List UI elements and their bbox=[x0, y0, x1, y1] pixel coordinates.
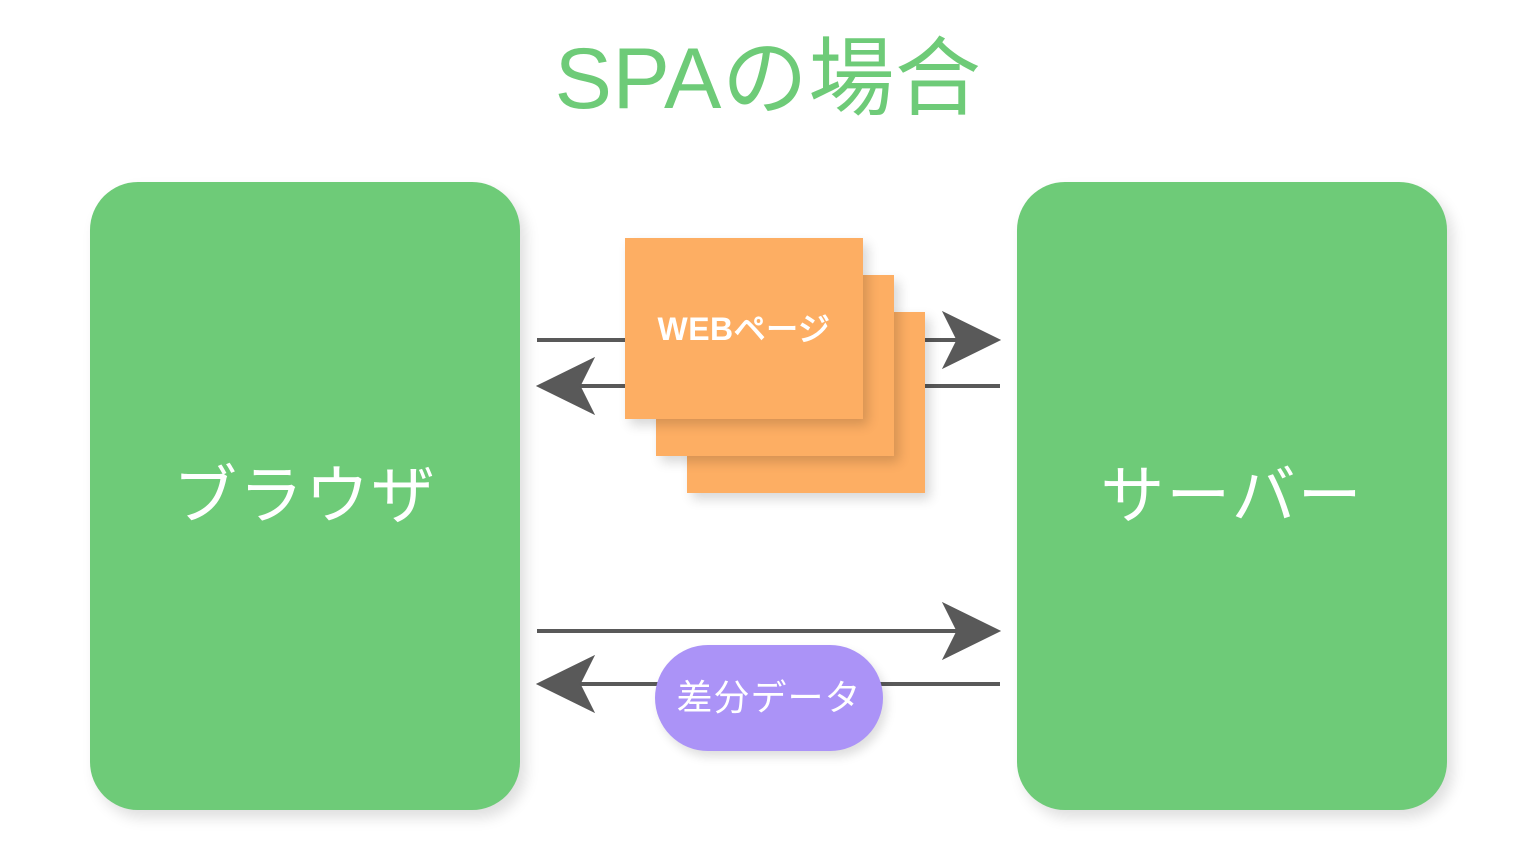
node-server-label: サーバー bbox=[1100, 464, 1363, 528]
node-browser-label: ブラウザ bbox=[173, 464, 437, 528]
node-server[interactable]: サーバー bbox=[1017, 182, 1447, 810]
diagram-canvas: SPAの場合 ブラウザ bbox=[0, 0, 1536, 864]
node-browser[interactable]: ブラウザ bbox=[90, 182, 520, 810]
diff-data-pill-label: 差分データ bbox=[676, 680, 861, 716]
web-page-card-stack: WEBページ WEBページ WEBページ bbox=[625, 238, 925, 494]
web-page-card-label: WEBページ bbox=[657, 313, 830, 345]
diff-data-pill[interactable]: 差分データ bbox=[655, 645, 883, 751]
web-page-card-front[interactable]: WEBページ bbox=[625, 238, 863, 419]
